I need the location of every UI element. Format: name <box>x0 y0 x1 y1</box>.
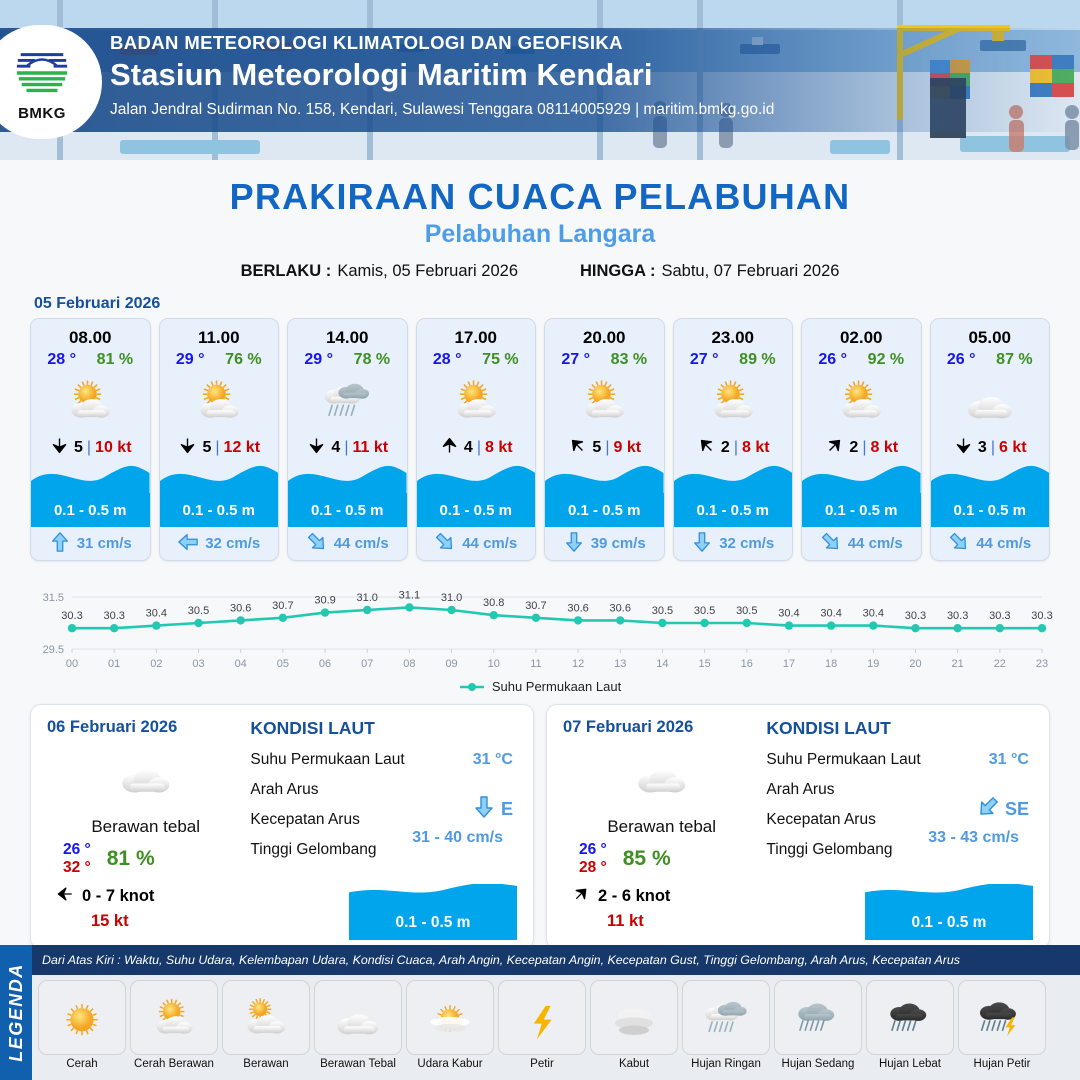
current-speed-row: Kecepatan Arus 33 - 43 cm/s <box>766 811 1033 829</box>
wind-direction-icon <box>49 435 70 461</box>
card-temp-humidity: 27 ° 83 % <box>545 348 664 369</box>
current-speed: 44 cm/s <box>848 535 903 552</box>
wave-height: 0.1 - 0.5 m <box>953 502 1026 519</box>
svg-text:30.4: 30.4 <box>778 608 799 620</box>
panel-date: 07 Februari 2026 <box>563 718 760 737</box>
legend-item-label: Cerah <box>38 1058 126 1070</box>
wave-height: 0.1 - 0.5 m <box>182 502 255 519</box>
legend-item-label: Petir <box>498 1058 586 1070</box>
panel-wind-range: 0 - 7 knot <box>82 887 154 906</box>
card-current: 44 cm/s <box>802 527 921 560</box>
card-wave: 0.1 - 0.5 m <box>288 465 407 527</box>
legend-item-label: Udara Kabur <box>406 1058 494 1070</box>
weather-icon-cerah-berawan <box>417 369 536 433</box>
wind-gust: 8 kt <box>485 439 513 457</box>
page-header: BMKG BADAN METEOROLOGI KLIMATOLOGI DAN G… <box>0 0 1080 160</box>
panel-temp-max: 28 ° <box>579 859 607 877</box>
panel-wind-gust: 15 kt <box>91 912 244 931</box>
wave-height-row: Tinggi Gelombang <box>766 841 1033 859</box>
panel-humidity: 85 % <box>623 847 671 871</box>
card-humidity: 87 % <box>996 351 1032 369</box>
svg-text:30.5: 30.5 <box>188 605 209 617</box>
current-direction-icon <box>563 531 585 557</box>
validity-row: BERLAKU :Kamis, 05 Februari 2026 HINGGA … <box>0 262 1080 281</box>
wind-separator: | <box>477 439 481 457</box>
panel-date: 06 Februari 2026 <box>47 718 244 737</box>
legend-item: Hujan Sedang <box>774 980 862 1070</box>
card-wave: 0.1 - 0.5 m <box>674 465 793 527</box>
card-temperature: 28 ° <box>433 351 462 369</box>
legend-item: Hujan Ringan <box>682 980 770 1070</box>
valid-to-label: HINGGA : <box>580 262 655 280</box>
wave-height-row: Tinggi Gelombang <box>250 841 517 859</box>
legend-icon-berawan-tebal <box>314 980 402 1055</box>
weather-icon-cerah-berawan <box>674 369 793 433</box>
svg-text:30.5: 30.5 <box>736 605 757 617</box>
current-direction-icon <box>306 531 328 557</box>
svg-text:29.5: 29.5 <box>43 644 64 656</box>
panel-wave-graphic: 0.1 - 0.5 m <box>865 884 1033 940</box>
legend-item: Kabut <box>590 980 678 1070</box>
forecast-card[interactable]: 02.00 26 ° 92 % 2 | 8 kt <box>801 318 922 561</box>
legend-icon-hujan-petir <box>958 980 1046 1055</box>
card-current: 31 cm/s <box>31 527 150 560</box>
sst-chart: 31.529.530.30030.30130.40230.50330.60430… <box>26 575 1054 675</box>
legenda-label: LEGENDA <box>6 963 27 1062</box>
legend-item-label: Cerah Berawan <box>130 1058 218 1070</box>
card-wind: 4 | 8 kt <box>417 433 536 463</box>
panel-wind: 2 - 6 knot <box>563 884 760 909</box>
svg-text:30.5: 30.5 <box>652 605 673 617</box>
legend-footer: LEGENDA Dari Atas Kiri : Waktu, Suhu Uda… <box>0 945 1080 1080</box>
sst-row: Suhu Permukaan Laut 31 °C <box>766 751 1033 769</box>
panel-left: 07 Februari 2026 Berawan tebal 26 ° 28 ° <box>563 718 760 938</box>
panel-temp-max: 32 ° <box>63 859 91 877</box>
panel-wind-range: 2 - 6 knot <box>598 887 670 906</box>
svg-text:30.3: 30.3 <box>61 610 82 622</box>
title-section: PRAKIRAAN CUACA PELABUHAN Pelabuhan Lang… <box>0 176 1080 281</box>
legend-item: Petir <box>498 980 586 1070</box>
svg-text:16: 16 <box>741 658 753 670</box>
panel-temp-humidity: 26 ° 28 ° 85 % <box>563 841 760 877</box>
panel-temp-min: 26 ° <box>579 841 607 859</box>
card-temp-humidity: 26 ° 87 % <box>931 348 1050 369</box>
panel-temps: 26 ° 28 ° <box>579 841 607 877</box>
wind-direction-icon <box>567 435 588 461</box>
card-humidity: 78 % <box>354 351 390 369</box>
legend-item: Berawan Tebal <box>314 980 402 1070</box>
valid-from-value: Kamis, 05 Februari 2026 <box>337 262 518 280</box>
card-humidity: 75 % <box>482 351 518 369</box>
card-current: 44 cm/s <box>288 527 407 560</box>
wind-speed: 2 <box>849 439 858 457</box>
daily-forecast-panel[interactable]: 06 Februari 2026 Berawan tebal 26 ° 32 ° <box>30 704 534 949</box>
card-wind: 5 | 10 kt <box>31 433 150 463</box>
card-wind: 2 | 8 kt <box>674 433 793 463</box>
card-current: 32 cm/s <box>160 527 279 560</box>
current-direction-row: Arah Arus E <box>250 781 517 799</box>
wave-height: 0.1 - 0.5 m <box>568 502 641 519</box>
panel-right: KONDISI LAUT Suhu Permukaan Laut 31 °C A… <box>760 718 1033 938</box>
svg-text:14: 14 <box>656 658 668 670</box>
forecast-date-label: 05 Februari 2026 <box>34 295 1080 313</box>
panel-condition: Berawan tebal <box>563 817 760 837</box>
legend-marker-icon <box>459 682 485 692</box>
legend-footer-inner: Dari Atas Kiri : Waktu, Suhu Udara, Kele… <box>32 945 1080 1080</box>
legend-icon-hujan-sedang <box>774 980 862 1055</box>
svg-text:18: 18 <box>825 658 837 670</box>
svg-text:30.6: 30.6 <box>567 602 588 614</box>
sea-conditions-title: KONDISI LAUT <box>766 718 1033 739</box>
legend-item: Berawan <box>222 980 310 1070</box>
wind-direction-icon <box>55 884 75 909</box>
legend-icon-cerah <box>38 980 126 1055</box>
svg-text:31.0: 31.0 <box>357 592 378 604</box>
station-address: Jalan Jendral Sudirman No. 158, Kendari,… <box>110 101 774 119</box>
wind-direction-icon <box>177 435 198 461</box>
forecast-card[interactable]: 17.00 28 ° 75 % 4 | 8 kt <box>416 318 537 561</box>
card-wave: 0.1 - 0.5 m <box>802 465 921 527</box>
svg-text:08: 08 <box>403 658 415 670</box>
legend-icon-list: Cerah Cerah Berawan <box>32 975 1080 1070</box>
svg-text:05: 05 <box>277 658 289 670</box>
weather-icon-berawan-tebal <box>47 743 244 805</box>
card-temp-humidity: 29 ° 78 % <box>288 348 407 369</box>
wave-height: 0.1 - 0.5 m <box>439 502 512 519</box>
card-wind: 3 | 6 kt <box>931 433 1050 463</box>
weather-icon-cerah-berawan <box>160 369 279 433</box>
wind-speed: 4 <box>464 439 473 457</box>
wave-height-band: 0.1 - 0.5 m <box>31 493 150 527</box>
svg-text:30.7: 30.7 <box>272 600 293 612</box>
svg-text:22: 22 <box>994 658 1006 670</box>
panel-wave-graphic: 0.1 - 0.5 m <box>349 884 517 940</box>
svg-text:21: 21 <box>952 658 964 670</box>
wind-direction-icon <box>696 435 717 461</box>
card-wave: 0.1 - 0.5 m <box>417 465 536 527</box>
card-current: 44 cm/s <box>417 527 536 560</box>
wind-direction-icon <box>571 884 591 909</box>
panel-wind: 0 - 7 knot <box>47 884 244 909</box>
legend-item-label: Hujan Ringan <box>682 1058 770 1070</box>
svg-text:30.7: 30.7 <box>525 600 546 612</box>
card-temperature: 26 ° <box>818 351 847 369</box>
svg-text:30.8: 30.8 <box>483 597 504 609</box>
valid-to: HINGGA :Sabtu, 07 Februari 2026 <box>580 262 839 281</box>
panel-wind-gust: 11 kt <box>607 912 760 931</box>
legend-note: Dari Atas Kiri : Waktu, Suhu Udara, Kele… <box>32 945 1080 975</box>
agency-name: BADAN METEOROLOGI KLIMATOLOGI DAN GEOFIS… <box>110 32 774 54</box>
card-temperature: 29 ° <box>176 351 205 369</box>
legend-item-label: Hujan Sedang <box>774 1058 862 1070</box>
card-temp-humidity: 26 ° 92 % <box>802 348 921 369</box>
legend-item-label: Berawan <box>222 1058 310 1070</box>
forecast-card[interactable]: 11.00 29 ° 76 % 5 | 12 kt <box>159 318 280 561</box>
card-wind: 5 | 9 kt <box>545 433 664 463</box>
wave-height: 0.1 - 0.5 m <box>311 502 384 519</box>
header-text-block: BADAN METEOROLOGI KLIMATOLOGI DAN GEOFIS… <box>110 32 774 119</box>
current-direction-icon <box>948 531 970 557</box>
svg-text:31.1: 31.1 <box>399 589 420 601</box>
svg-text:30.6: 30.6 <box>610 602 631 614</box>
card-humidity: 83 % <box>611 351 647 369</box>
bmkg-logo-icon <box>13 42 71 104</box>
weather-icon-cerah-berawan <box>31 369 150 433</box>
card-time: 23.00 <box>674 319 793 348</box>
legend-item: Cerah <box>38 980 126 1070</box>
wind-separator: | <box>605 439 609 457</box>
card-temperature: 26 ° <box>947 351 976 369</box>
svg-text:23: 23 <box>1036 658 1048 670</box>
wind-separator: | <box>87 439 91 457</box>
card-wind: 2 | 8 kt <box>802 433 921 463</box>
card-time: 05.00 <box>931 319 1050 348</box>
card-temperature: 28 ° <box>47 351 76 369</box>
card-wave: 0.1 - 0.5 m <box>160 465 279 527</box>
valid-from: BERLAKU :Kamis, 05 Februari 2026 <box>241 262 518 281</box>
card-humidity: 89 % <box>739 351 775 369</box>
card-time: 17.00 <box>417 319 536 348</box>
wave-height-band: 0.1 - 0.5 m <box>802 493 921 527</box>
card-temperature: 27 ° <box>690 351 719 369</box>
legend-icon-udara-kabur <box>406 980 494 1055</box>
card-current: 32 cm/s <box>674 527 793 560</box>
card-humidity: 81 % <box>97 351 133 369</box>
wave-height-band: 0.1 - 0.5 m <box>417 493 536 527</box>
card-temp-humidity: 28 ° 81 % <box>31 348 150 369</box>
panel-wave-height: 0.1 - 0.5 m <box>396 914 471 932</box>
port-name: Pelabuhan Langara <box>0 220 1080 249</box>
svg-text:30.3: 30.3 <box>947 610 968 622</box>
wind-speed: 4 <box>331 439 340 457</box>
wind-separator: | <box>215 439 219 457</box>
weather-icon-hujan-ringan <box>288 369 407 433</box>
wind-gust: 11 kt <box>352 439 388 457</box>
legend-icon-petir <box>498 980 586 1055</box>
wind-gust: 8 kt <box>742 439 770 457</box>
panel-right: KONDISI LAUT Suhu Permukaan Laut 31 °C A… <box>244 718 517 938</box>
legend-item-label: Berawan Tebal <box>314 1058 402 1070</box>
card-temp-humidity: 28 ° 75 % <box>417 348 536 369</box>
current-speed: 44 cm/s <box>976 535 1031 552</box>
card-current: 39 cm/s <box>545 527 664 560</box>
wave-height-band: 0.1 - 0.5 m <box>545 493 664 527</box>
svg-text:03: 03 <box>192 658 204 670</box>
wind-separator: | <box>344 439 348 457</box>
legend-icon-cerah-berawan <box>130 980 218 1055</box>
card-humidity: 92 % <box>868 351 904 369</box>
svg-text:30.4: 30.4 <box>863 608 884 620</box>
card-temp-humidity: 27 ° 89 % <box>674 348 793 369</box>
weather-icon-berawan-tebal <box>563 743 760 805</box>
wind-gust: 9 kt <box>613 439 641 457</box>
station-name: Stasiun Meteorologi Maritim Kendari <box>110 57 774 93</box>
wave-height: 0.1 - 0.5 m <box>696 502 769 519</box>
svg-text:30.6: 30.6 <box>230 602 251 614</box>
current-speed: 39 cm/s <box>591 535 646 552</box>
weather-icon-berawan-tebal <box>931 369 1050 433</box>
panel-wave-height: 0.1 - 0.5 m <box>912 914 987 932</box>
current-direction-row: Arah Arus SE <box>766 781 1033 799</box>
svg-text:31.0: 31.0 <box>441 592 462 604</box>
wind-speed: 5 <box>592 439 601 457</box>
wave-height-band: 0.1 - 0.5 m <box>160 493 279 527</box>
daily-forecast-panel[interactable]: 07 Februari 2026 Berawan tebal 26 ° 28 ° <box>546 704 1050 949</box>
current-direction-icon <box>434 531 456 557</box>
chart-legend: Suhu Permukaan Laut <box>0 679 1080 694</box>
current-speed: 31 cm/s <box>77 535 132 552</box>
card-humidity: 76 % <box>225 351 261 369</box>
current-direction-icon <box>49 531 71 557</box>
svg-text:30.5: 30.5 <box>694 605 715 617</box>
legend-item: Cerah Berawan <box>130 980 218 1070</box>
wind-speed: 5 <box>74 439 83 457</box>
wind-speed: 3 <box>978 439 987 457</box>
current-speed-row: Kecepatan Arus 31 - 40 cm/s <box>250 811 517 829</box>
sst-value: 31 °C <box>473 751 513 769</box>
wind-gust: 8 kt <box>870 439 898 457</box>
card-wave: 0.1 - 0.5 m <box>31 465 150 527</box>
svg-text:01: 01 <box>108 658 120 670</box>
current-speed: 32 cm/s <box>719 535 774 552</box>
daily-forecast-panels: 06 Februari 2026 Berawan tebal 26 ° 32 ° <box>0 694 1080 949</box>
current-direction-icon <box>691 531 713 557</box>
wave-height-band: 0.1 - 0.5 m <box>931 493 1050 527</box>
wave-height-band: 0.1 - 0.5 m <box>288 493 407 527</box>
legend-item: Hujan Lebat <box>866 980 954 1070</box>
forecast-card[interactable]: 05.00 26 ° 87 % 3 | 6 kt <box>930 318 1051 561</box>
svg-text:04: 04 <box>235 658 247 670</box>
svg-text:30.3: 30.3 <box>989 610 1010 622</box>
panel-wave-band: 0.1 - 0.5 m <box>349 906 517 940</box>
panel-temp-humidity: 26 ° 32 ° 81 % <box>47 841 244 877</box>
wind-direction-icon <box>306 435 327 461</box>
svg-text:31.5: 31.5 <box>43 592 64 604</box>
wind-separator: | <box>734 439 738 457</box>
wind-speed: 5 <box>202 439 211 457</box>
svg-text:00: 00 <box>66 658 78 670</box>
legend-item-label: Kabut <box>590 1058 678 1070</box>
valid-from-label: BERLAKU : <box>241 262 332 280</box>
legend-item-label: Hujan Lebat <box>866 1058 954 1070</box>
svg-text:30.3: 30.3 <box>905 610 926 622</box>
svg-text:02: 02 <box>150 658 162 670</box>
svg-text:12: 12 <box>572 658 584 670</box>
card-wave: 0.1 - 0.5 m <box>545 465 664 527</box>
wave-height-band: 0.1 - 0.5 m <box>674 493 793 527</box>
svg-text:30.3: 30.3 <box>1031 610 1052 622</box>
card-wind: 5 | 12 kt <box>160 433 279 463</box>
svg-text:30.4: 30.4 <box>820 608 841 620</box>
card-time: 20.00 <box>545 319 664 348</box>
valid-to-value: Sabtu, 07 Februari 2026 <box>661 262 839 280</box>
legend-item-label: Hujan Petir <box>958 1058 1046 1070</box>
legend-icon-hujan-ringan <box>682 980 770 1055</box>
legend-icon-hujan-lebat <box>866 980 954 1055</box>
current-speed: 44 cm/s <box>334 535 389 552</box>
wind-direction-icon <box>439 435 460 461</box>
card-temperature: 29 ° <box>304 351 333 369</box>
svg-text:30.3: 30.3 <box>103 610 124 622</box>
hourly-forecast-list: 08.00 28 ° 81 % 5 | 10 kt <box>0 318 1080 561</box>
card-temperature: 27 ° <box>561 351 590 369</box>
svg-text:11: 11 <box>530 658 541 670</box>
wind-gust: 6 kt <box>999 439 1027 457</box>
svg-text:19: 19 <box>867 658 879 670</box>
card-time: 08.00 <box>31 319 150 348</box>
bmkg-logo-text: BMKG <box>18 105 66 122</box>
sea-conditions-title: KONDISI LAUT <box>250 718 517 739</box>
chart-legend-label: Suhu Permukaan Laut <box>492 679 621 694</box>
current-direction-icon <box>177 531 199 557</box>
panel-condition: Berawan tebal <box>47 817 244 837</box>
weather-icon-cerah-berawan <box>802 369 921 433</box>
forecast-card[interactable]: 14.00 29 ° 78 % <box>287 318 408 561</box>
wind-gust: 12 kt <box>224 439 260 457</box>
legend-icon-berawan <box>222 980 310 1055</box>
card-wind: 4 | 11 kt <box>288 433 407 463</box>
wind-gust: 10 kt <box>95 439 131 457</box>
svg-text:09: 09 <box>445 658 457 670</box>
card-time: 14.00 <box>288 319 407 348</box>
card-current: 44 cm/s <box>931 527 1050 560</box>
legenda-sidebar: LEGENDA <box>0 945 32 1080</box>
svg-text:30.4: 30.4 <box>146 608 167 620</box>
current-speed: 32 cm/s <box>205 535 260 552</box>
svg-text:15: 15 <box>698 658 710 670</box>
panel-humidity: 81 % <box>107 847 155 871</box>
svg-text:06: 06 <box>319 658 331 670</box>
legend-item: Hujan Petir <box>958 980 1046 1070</box>
wave-height: 0.1 - 0.5 m <box>54 502 127 519</box>
wind-speed: 2 <box>721 439 730 457</box>
wind-separator: | <box>991 439 995 457</box>
sst-value: 31 °C <box>989 751 1029 769</box>
wind-direction-icon <box>824 435 845 461</box>
svg-text:07: 07 <box>361 658 373 670</box>
forecast-card[interactable]: 23.00 27 ° 89 % 2 | 8 kt <box>673 318 794 561</box>
svg-text:13: 13 <box>614 658 626 670</box>
panel-left: 06 Februari 2026 Berawan tebal 26 ° 32 ° <box>47 718 244 938</box>
svg-text:10: 10 <box>488 658 500 670</box>
svg-text:30.9: 30.9 <box>314 595 335 607</box>
forecast-card[interactable]: 20.00 27 ° 83 % 5 | 9 kt <box>544 318 665 561</box>
wind-separator: | <box>862 439 866 457</box>
wave-height: 0.1 - 0.5 m <box>825 502 898 519</box>
current-speed: 44 cm/s <box>462 535 517 552</box>
forecast-card[interactable]: 08.00 28 ° 81 % 5 | 10 kt <box>30 318 151 561</box>
card-time: 11.00 <box>160 319 279 348</box>
panel-temp-min: 26 ° <box>63 841 91 859</box>
current-direction-icon <box>820 531 842 557</box>
card-time: 02.00 <box>802 319 921 348</box>
legend-item: Udara Kabur <box>406 980 494 1070</box>
page-title: PRAKIRAAN CUACA PELABUHAN <box>0 176 1080 218</box>
card-wave: 0.1 - 0.5 m <box>931 465 1050 527</box>
svg-text:17: 17 <box>783 658 795 670</box>
svg-text:20: 20 <box>909 658 921 670</box>
panel-temps: 26 ° 32 ° <box>63 841 91 877</box>
card-temp-humidity: 29 ° 76 % <box>160 348 279 369</box>
wind-direction-icon <box>953 435 974 461</box>
weather-icon-cerah-berawan <box>545 369 664 433</box>
legend-icon-kabut <box>590 980 678 1055</box>
sst-row: Suhu Permukaan Laut 31 °C <box>250 751 517 769</box>
panel-wave-band: 0.1 - 0.5 m <box>865 906 1033 940</box>
